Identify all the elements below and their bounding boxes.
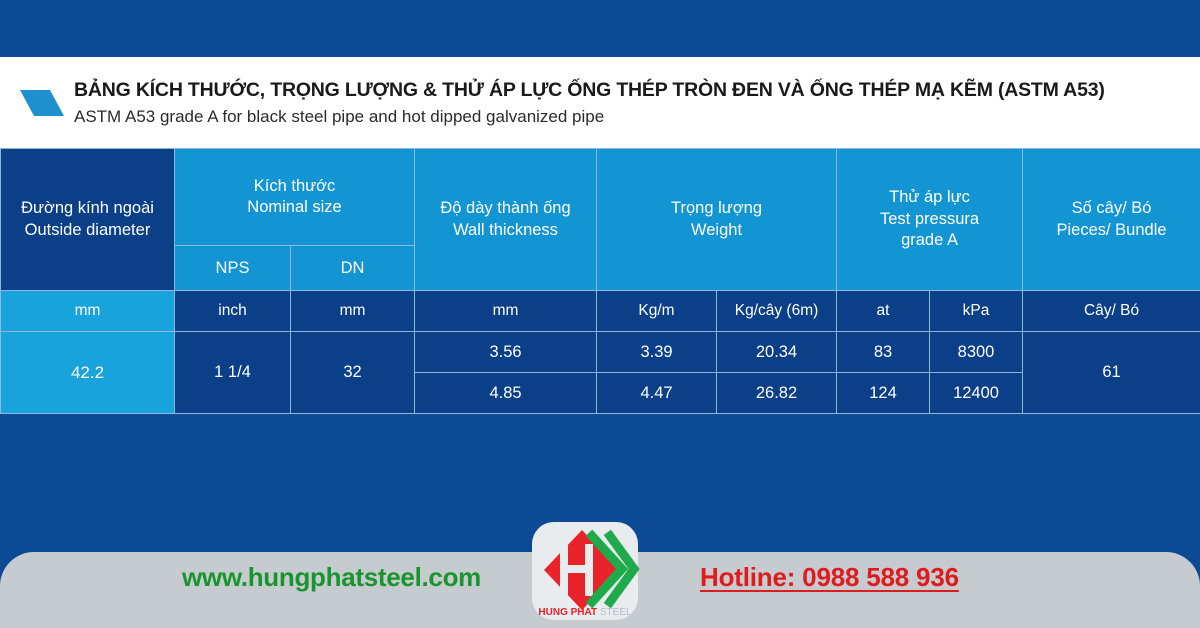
header-wall-thickness-en: Wall thickness: [415, 220, 596, 241]
page-subtitle: ASTM A53 grade A for black steel pipe an…: [74, 106, 1105, 128]
website-url[interactable]: www.hungphatsteel.com: [182, 562, 481, 593]
parallelogram-slash-icon: [16, 86, 68, 120]
spec-table-container: Đường kính ngoài Outside diameter Kích t…: [0, 148, 1200, 414]
header-bundle-vi: Số cây/ Bó: [1023, 198, 1200, 219]
header-text-block: BẢNG KÍCH THƯỚC, TRỌNG LƯỢNG & THỬ ÁP LỰ…: [74, 79, 1105, 128]
unit-outside-diameter: mm: [1, 291, 175, 332]
logo-wordmark-light: STEEL: [600, 607, 632, 618]
header-nominal-size: Kích thước Nominal size: [175, 149, 415, 246]
logo-wordmark-bold: HUNG PHAT STEEL: [538, 607, 632, 618]
header-test-pressure-en: Test pressura: [837, 209, 1022, 230]
header-outside-diameter-en: Outside diameter: [1, 220, 174, 241]
unit-dn: mm: [291, 291, 415, 332]
spec-table: Đường kính ngoài Outside diameter Kích t…: [0, 148, 1200, 414]
header-wall-thickness: Độ dày thành ống Wall thickness: [415, 149, 597, 291]
cell-weight-per-piece: 20.34: [717, 332, 837, 373]
unit-weight-per-piece: Kg/cây (6m): [717, 291, 837, 332]
cell-nps: 1 1/4: [175, 332, 291, 414]
cell-wall-thickness: 3.56: [415, 332, 597, 373]
cell-outside-diameter: 42.2: [1, 332, 175, 414]
cell-bundle: 61: [1023, 332, 1200, 414]
cell-at: 83: [837, 332, 930, 373]
cell-kpa: 8300: [930, 332, 1023, 373]
header-outside-diameter: Đường kính ngoài Outside diameter: [1, 149, 175, 291]
page-title: BẢNG KÍCH THƯỚC, TRỌNG LƯỢNG & THỬ ÁP LỰ…: [74, 79, 1105, 101]
unit-at: at: [837, 291, 930, 332]
table-row: 42.2 1 1/4 32 3.56 3.39 20.34 83 8300 61: [1, 332, 1200, 373]
unit-wall-thickness: mm: [415, 291, 597, 332]
cell-weight-per-piece: 26.82: [717, 373, 837, 414]
table-unit-row: mm inch mm mm Kg/m Kg/cây (6m) at kPa Câ…: [1, 291, 1200, 332]
unit-bundle: Cây/ Bó: [1023, 291, 1200, 332]
header-weight-en: Weight: [597, 220, 836, 241]
hotline-text[interactable]: Hotline: 0988 588 936: [700, 562, 959, 593]
unit-kpa: kPa: [930, 291, 1023, 332]
page-root: BẢNG KÍCH THƯỚC, TRỌNG LƯỢNG & THỬ ÁP LỰ…: [0, 0, 1200, 628]
header-pieces-bundle: Số cây/ Bó Pieces/ Bundle: [1023, 149, 1200, 291]
header-test-pressure-vi: Thử áp lực: [837, 187, 1022, 208]
header-test-pressure: Thử áp lực Test pressura grade A: [837, 149, 1023, 291]
header-nominal-size-vi: Kích thước: [175, 176, 414, 197]
header-bundle-en: Pieces/ Bundle: [1023, 220, 1200, 241]
cell-weight-per-m: 4.47: [597, 373, 717, 414]
cell-kpa: 12400: [930, 373, 1023, 414]
header-dn: DN: [291, 246, 415, 291]
header-weight-vi: Trọng lượng: [597, 198, 836, 219]
unit-nps: inch: [175, 291, 291, 332]
header-outside-diameter-vi: Đường kính ngoài: [1, 198, 174, 219]
cell-wall-thickness: 4.85: [415, 373, 597, 414]
hung-phat-steel-logo: HUNG PHAT STEEL: [530, 522, 640, 622]
header-band: BẢNG KÍCH THƯỚC, TRỌNG LƯỢNG & THỬ ÁP LỰ…: [0, 57, 1200, 148]
header-weight: Trọng lượng Weight: [597, 149, 837, 291]
header-test-pressure-grade: grade A: [837, 230, 1022, 251]
header-nominal-size-en: Nominal size: [175, 197, 414, 218]
cell-dn: 32: [291, 332, 415, 414]
cell-weight-per-m: 3.39: [597, 332, 717, 373]
header-nps: NPS: [175, 246, 291, 291]
unit-weight-per-m: Kg/m: [597, 291, 717, 332]
table-header-row-main: Đường kính ngoài Outside diameter Kích t…: [1, 149, 1200, 246]
header-wall-thickness-vi: Độ dày thành ống: [415, 198, 596, 219]
cell-at: 124: [837, 373, 930, 414]
